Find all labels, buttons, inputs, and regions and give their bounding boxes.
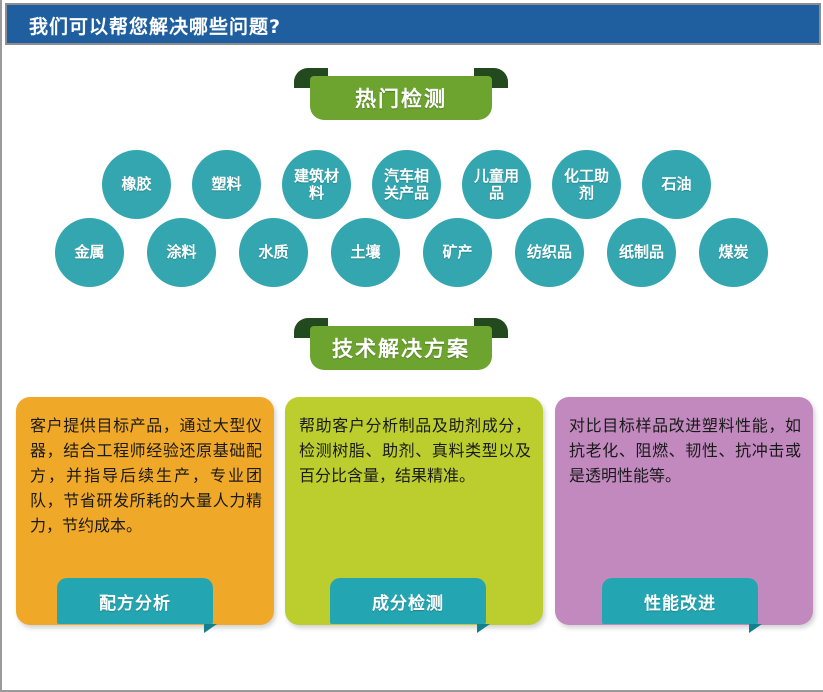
category-bubble-label: 建筑材料 <box>288 168 346 202</box>
category-bubble-label: 矿产 <box>429 244 487 261</box>
category-bubble-label: 纺织品 <box>521 244 579 261</box>
slide-title-bar: 我们可以帮您解决哪些问题? <box>5 3 821 45</box>
category-bubble-row1-2[interactable]: 塑料 <box>192 150 261 219</box>
category-bubble-row2-1[interactable]: 金属 <box>55 218 124 287</box>
category-bubble-label: 金属 <box>61 244 119 261</box>
solution-tag-label: 性能改进 <box>644 589 716 614</box>
category-bubble-label: 石油 <box>648 176 706 193</box>
category-bubble-row2-6[interactable]: 纺织品 <box>515 218 584 287</box>
category-bubble-label: 土壤 <box>337 244 395 261</box>
solution-tag-formula-analysis[interactable]: 配方分析 <box>57 578 213 624</box>
category-bubble-row1-7[interactable]: 石油 <box>642 150 711 219</box>
banner-solutions-label: 技术解决方案 <box>310 326 492 370</box>
solution-tag-performance-improvement[interactable]: 性能改进 <box>602 578 758 624</box>
category-bubble-label: 塑料 <box>198 176 256 193</box>
solution-tag-label: 成分检测 <box>372 589 444 614</box>
category-bubble-row1-4[interactable]: 汽车相关产品 <box>372 150 441 219</box>
category-bubble-row1-3[interactable]: 建筑材料 <box>282 150 351 219</box>
category-bubble-label: 涂料 <box>153 244 211 261</box>
category-bubble-row2-7[interactable]: 纸制品 <box>607 218 676 287</box>
category-bubble-row1-5[interactable]: 儿童用品 <box>462 150 531 219</box>
category-row-1: 橡胶塑料建筑材料汽车相关产品儿童用品化工助剂石油 <box>2 150 823 220</box>
page-title: 我们可以帮您解决哪些问题? <box>29 12 281 39</box>
category-bubble-row2-4[interactable]: 土壤 <box>331 218 400 287</box>
tag-notch-icon <box>204 624 217 633</box>
category-bubble-label: 化工助剂 <box>558 168 616 202</box>
solution-tag-label: 配方分析 <box>99 589 171 614</box>
tag-notch-icon <box>749 624 762 633</box>
category-row-2: 金属涂料水质土壤矿产纺织品纸制品煤炭 <box>2 218 823 288</box>
banner-hot-testing-label: 热门检测 <box>310 76 492 120</box>
solution-card-text: 客户提供目标产品，通过大型仪器，结合工程师经验还原基础配方，并指导后续生产，专业… <box>30 413 262 538</box>
category-bubble-label: 橡胶 <box>108 176 166 193</box>
banner-hot-testing: 热门检测 <box>294 68 508 120</box>
category-bubble-row2-5[interactable]: 矿产 <box>423 218 492 287</box>
banner-solutions: 技术解决方案 <box>294 318 508 370</box>
category-bubble-label: 水质 <box>245 244 303 261</box>
solution-card-text: 对比目标样品改进塑料性能，如抗老化、阻燃、韧性、抗冲击或是透明性能等。 <box>569 413 801 488</box>
slide-page: 我们可以帮您解决哪些问题? 热门检测 橡胶塑料建筑材料汽车相关产品儿童用品化工助… <box>0 0 823 692</box>
solution-card-text: 帮助客户分析制品及助剂成分，检测树脂、助剂、真料类型以及百分比含量，结果精准。 <box>299 413 531 488</box>
category-bubble-row2-2[interactable]: 涂料 <box>147 218 216 287</box>
tag-notch-icon <box>477 624 490 633</box>
category-bubble-label: 纸制品 <box>613 244 671 261</box>
category-bubble-label: 煤炭 <box>705 244 763 261</box>
category-bubble-row2-8[interactable]: 煤炭 <box>699 218 768 287</box>
category-bubble-row1-6[interactable]: 化工助剂 <box>552 150 621 219</box>
category-bubble-label: 儿童用品 <box>468 168 526 202</box>
category-bubble-label: 汽车相关产品 <box>378 168 436 202</box>
category-bubble-row2-3[interactable]: 水质 <box>239 218 308 287</box>
solution-tag-composition-testing[interactable]: 成分检测 <box>330 578 486 624</box>
category-bubble-row1-1[interactable]: 橡胶 <box>102 150 171 219</box>
